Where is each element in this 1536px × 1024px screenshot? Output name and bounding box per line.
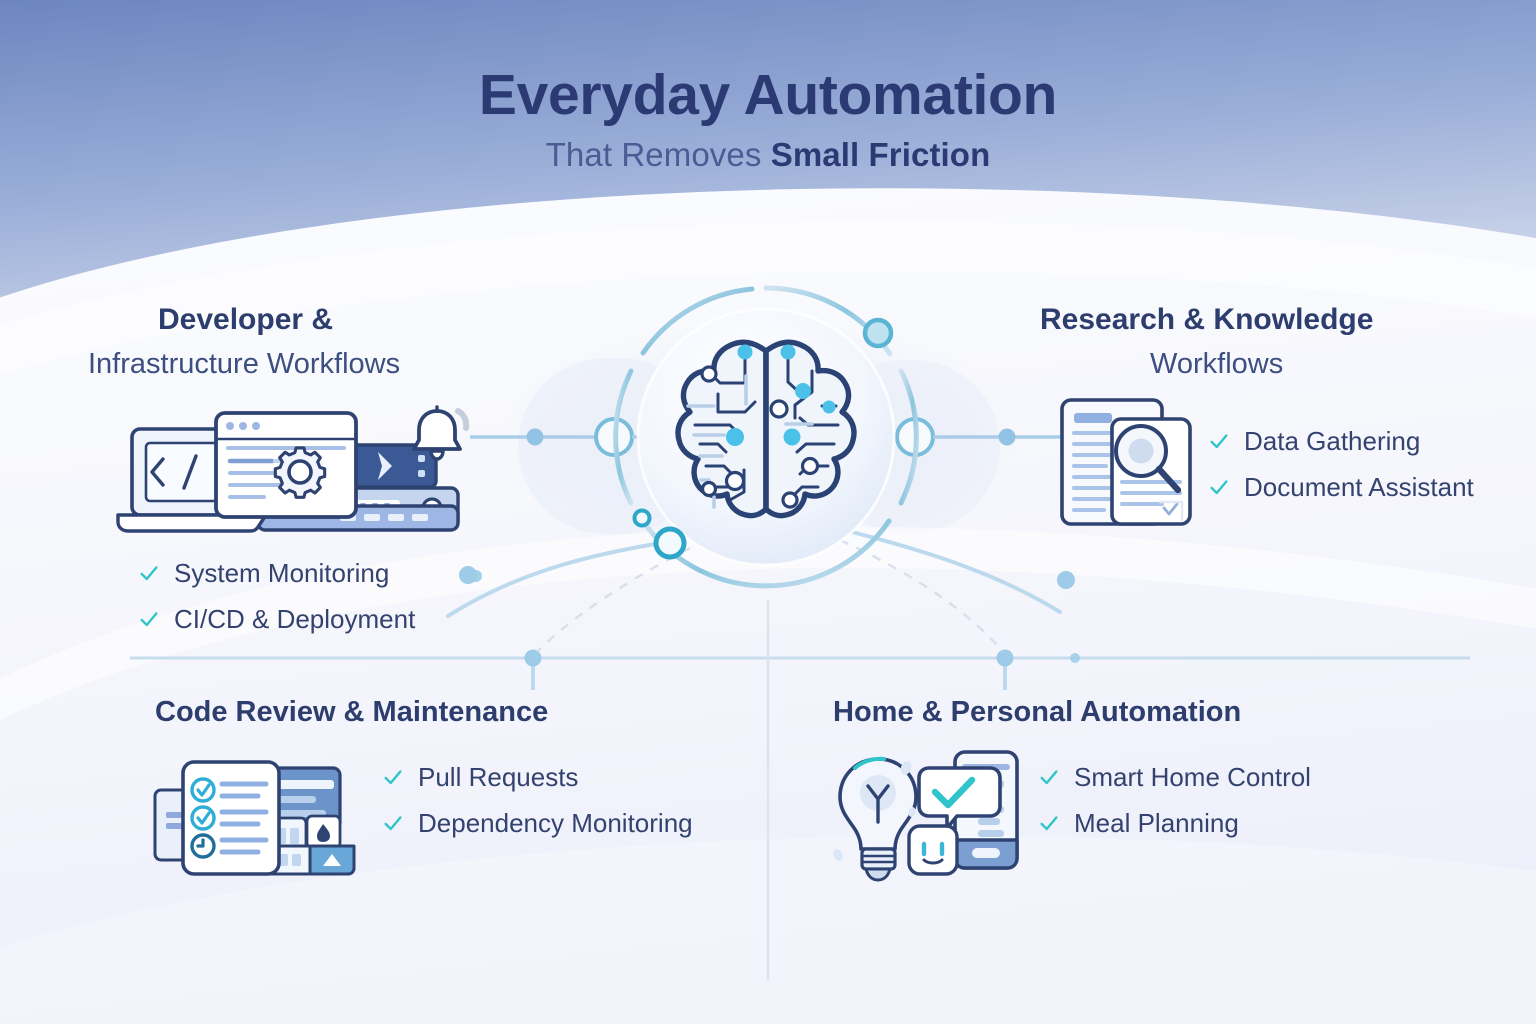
ai-brain-hub (0, 0, 1536, 1024)
infographic-canvas: Everyday Automation That Removes Small F… (0, 0, 1536, 1024)
